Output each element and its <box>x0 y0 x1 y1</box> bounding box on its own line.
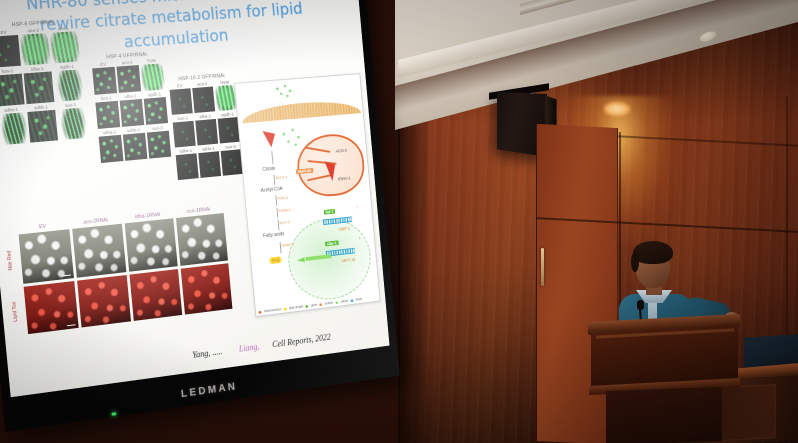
lipid-row-label: Lipid Tox <box>10 287 25 336</box>
wall-sconce-lamp <box>604 102 630 116</box>
lipid-tox-micrograph <box>24 281 79 334</box>
mito-crista <box>307 174 333 181</box>
legend-item: protein <box>325 301 334 306</box>
micrograph-image <box>99 135 124 163</box>
enzyme-elo2: ELO-2 <box>279 219 289 225</box>
micrograph-cell: sdha-1 <box>98 129 123 163</box>
micrograph-image <box>57 107 87 140</box>
lipid-tox-micrograph <box>77 275 131 328</box>
micrograph-image <box>0 35 21 68</box>
micrograph-image <box>170 88 193 115</box>
speaker-hair-side <box>631 252 639 272</box>
micrograph-cell: idha-1 <box>23 66 54 105</box>
nile-red-micrograph <box>72 224 126 278</box>
podium-base <box>606 387 722 443</box>
panel-group-hsp4: HSP-4 GFP/RNAi EV aco-2 TUN fum-1 idha-1… <box>91 51 171 163</box>
micrograph-image <box>27 110 58 143</box>
micrograph-image <box>24 71 55 104</box>
micrograph-image <box>95 101 120 129</box>
metabolite-acetylcoa: Acetyl-CoA <box>261 186 283 194</box>
display-brand-label: LEDMAN <box>181 381 238 400</box>
micrograph-cell: ogdh-1 <box>143 91 168 125</box>
micrograph-image <box>144 97 168 125</box>
enzyme-pod2: POD-2 <box>277 195 288 201</box>
nile-red-micrograph <box>19 229 74 284</box>
micrograph-cell: fum-1 <box>172 115 196 147</box>
micrograph-image <box>176 153 199 180</box>
nile-red-micrograph <box>176 213 228 266</box>
metabolite-tag: TAG <box>269 256 283 264</box>
mito-crista <box>304 147 330 153</box>
legend-item: citrate <box>341 299 349 304</box>
legend-item: gene <box>311 303 317 307</box>
micrograph-image <box>0 112 28 145</box>
legend-item: lipid droplet <box>289 305 303 311</box>
micrograph-image <box>123 133 148 161</box>
citation-last-author: Liang, <box>238 341 259 353</box>
micrograph-cell: aco-2 <box>19 27 50 65</box>
micrograph-image <box>53 69 83 102</box>
slide-canvas: NHR-80 senses mitochondrial UPR to rewir… <box>0 0 389 397</box>
legend-item: mitochondrion <box>264 307 282 313</box>
legend-item: RNAi <box>356 297 363 301</box>
micrograph-cell: idha-1 <box>119 93 144 127</box>
micrograph-cell: suo-3 <box>146 125 171 159</box>
micrograph-cell: aco-2 <box>192 81 215 113</box>
micrograph-cell: fum-1 <box>0 68 25 107</box>
lipid-row-label: Nile Red <box>5 235 20 286</box>
pathway-diagram: ACO-2 IDHA-1 Citrate ACLY-1 Acetyl-CoA P… <box>234 73 380 317</box>
display-bezel: NHR-80 senses mitochondrial UPR to rewir… <box>0 0 400 432</box>
pathway-arrow <box>271 151 273 164</box>
enzyme-acly1: ACLY-1 <box>275 174 287 180</box>
citation-first-author: Yang, ..... <box>192 346 223 359</box>
plasma-membrane <box>241 98 362 123</box>
presentation-display: NHR-80 senses mitochondrial UPR to rewir… <box>0 0 410 440</box>
nucleus <box>285 215 374 304</box>
micrograph-cell: sdha-1 <box>0 106 28 145</box>
micrograph-image <box>195 119 218 146</box>
micrograph-cell: TUN <box>140 58 165 91</box>
micrograph-cell: EV <box>92 61 117 95</box>
micrograph-image <box>173 121 196 148</box>
lipid-tox-micrograph <box>181 263 233 314</box>
nile-red-micrograph <box>125 218 178 271</box>
micrograph-image <box>0 74 25 107</box>
panel-group-hsp162: HSP-16.2 GFP/RNAi EV aco-2 Heat fum-1 id… <box>168 72 243 180</box>
speaker-hair <box>633 241 673 264</box>
micrograph-cell: sdhb-1 <box>27 104 58 143</box>
micrograph-cell: suo-3 <box>56 102 87 141</box>
lecture-room-photo: NHR-80 senses mitochondrial UPR to rewir… <box>0 0 798 443</box>
micrograph-cell: EV <box>169 83 193 115</box>
up-arrow-icon: ↑ <box>356 205 359 211</box>
metabolite-citrate: Citrate <box>262 166 275 173</box>
node-label-idha1: IDHA-1 <box>338 176 351 182</box>
micrograph-cell: aco-2 <box>116 59 141 93</box>
metabolite-fattyacids: Fatty acids <box>263 231 285 239</box>
citation-journal: Cell Reports, 2022 <box>272 332 331 349</box>
micrograph-image <box>20 33 51 66</box>
power-led-indicator <box>111 412 116 416</box>
micrograph-image <box>50 31 80 63</box>
micrograph-image <box>92 67 117 95</box>
micrograph-cell: ogdh-1 <box>53 63 84 101</box>
node-label-aco2: ACO-2 <box>335 148 347 154</box>
micrograph-image <box>147 131 171 159</box>
inhibitor-wedge <box>262 130 276 148</box>
micrograph-cell: sdhb-1 <box>122 127 147 161</box>
panel-group-hsp6: HSP-6 GFP/RNAi EV aco-2 cco-1 fum-1 idha… <box>0 18 87 145</box>
micrograph-image <box>116 65 141 93</box>
microphone-icon <box>637 300 644 310</box>
micrograph-cell: fum-1 <box>95 95 120 129</box>
micrograph-image <box>120 99 145 127</box>
citrate-particles-upper <box>272 83 296 100</box>
door-handle[interactable] <box>541 248 544 286</box>
enzyme-fasn1: FASN-1 <box>278 207 291 213</box>
micrograph-cell: EV <box>0 29 21 68</box>
citrate-particles-cytosol <box>278 126 306 151</box>
micrograph-cell: idha-1 <box>195 113 218 145</box>
micrograph-image <box>192 87 215 113</box>
lipid-panel-block: EV aco-2RNAi idha-1RNAi cco-1RNAi Nile R… <box>4 205 232 336</box>
micrograph-image <box>141 63 165 91</box>
micrograph-cell: sdhb-1 <box>198 146 221 178</box>
gene-label-fat7: fat-7 <box>324 209 336 215</box>
micrograph-image <box>198 151 221 178</box>
micrograph-cell: cco-1 <box>49 25 80 63</box>
micrograph-cell: sdha-1 <box>175 148 199 181</box>
up-arrow-icon: ↑ <box>359 236 362 242</box>
lipid-tox-micrograph <box>129 269 182 321</box>
